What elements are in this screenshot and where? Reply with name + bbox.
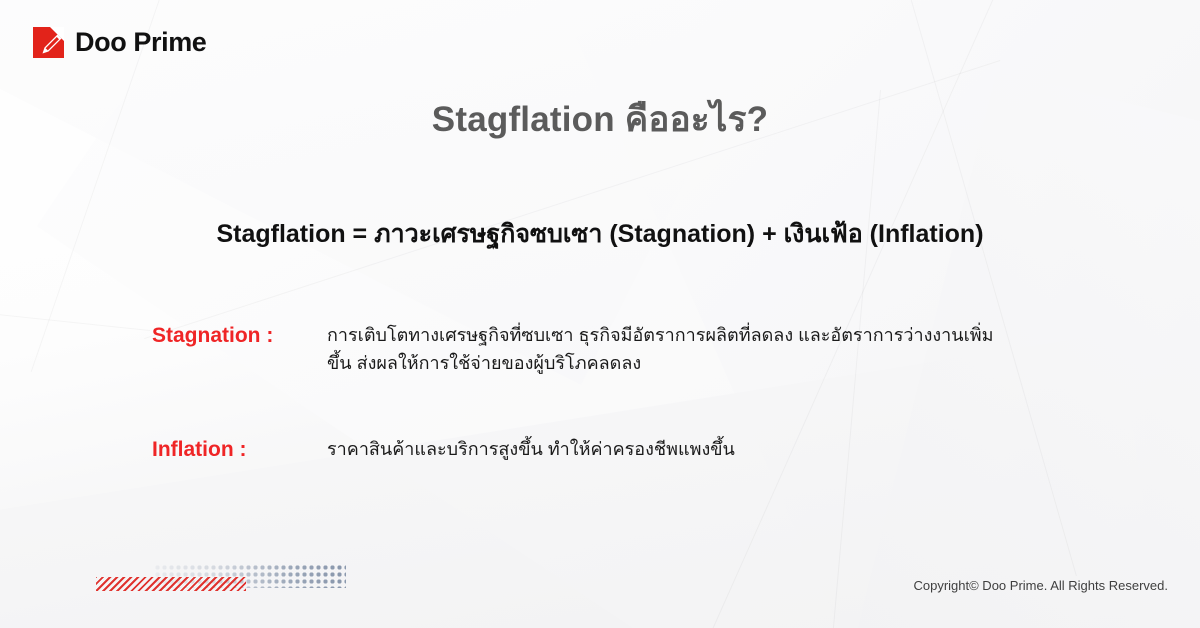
definition-row-inflation: Inflation : ราคาสินค้าและบริการสูงขึ้น ท… (152, 436, 1112, 464)
footer-decoration-icon (96, 564, 346, 594)
stagflation-equation: Stagflation = ภาวะเศรษฐกิจซบเซา (Stagnat… (0, 214, 1200, 254)
definition-term-inflation: Inflation : (152, 436, 327, 464)
doo-prime-logo-mark-icon (33, 27, 64, 58)
page-title: Stagflation คืออะไร? (0, 92, 1200, 147)
definition-list: Stagnation : การเติบโตทางเศรษฐกิจที่ซบเซ… (152, 322, 1112, 464)
definition-body-line: ราคาสินค้าและบริการสูงขึ้น ทำให้ค่าครองช… (327, 436, 1112, 464)
brand-logo-text: Doo Prime (75, 29, 206, 56)
definition-row-stagnation: Stagnation : การเติบโตทางเศรษฐกิจที่ซบเซ… (152, 322, 1112, 378)
definition-body-line: การเติบโตทางเศรษฐกิจที่ซบเซา ธุรกิจมีอัต… (327, 322, 1112, 350)
definition-body-stagnation: การเติบโตทางเศรษฐกิจที่ซบเซา ธุรกิจมีอัต… (327, 322, 1112, 378)
definition-body-inflation: ราคาสินค้าและบริการสูงขึ้น ทำให้ค่าครองช… (327, 436, 1112, 464)
definition-body-line: ขึ้น ส่งผลให้การใช้จ่ายของผู้บริโภคลดลง (327, 350, 1112, 378)
hatch-bar-icon (96, 577, 246, 591)
brand-logo[interactable]: Doo Prime (33, 27, 206, 58)
copyright-text: Copyright© Doo Prime. All Rights Reserve… (913, 578, 1168, 593)
slide-canvas: Doo Prime Stagflation คืออะไร? Stagflati… (0, 0, 1200, 628)
definition-term-stagnation: Stagnation : (152, 322, 327, 350)
